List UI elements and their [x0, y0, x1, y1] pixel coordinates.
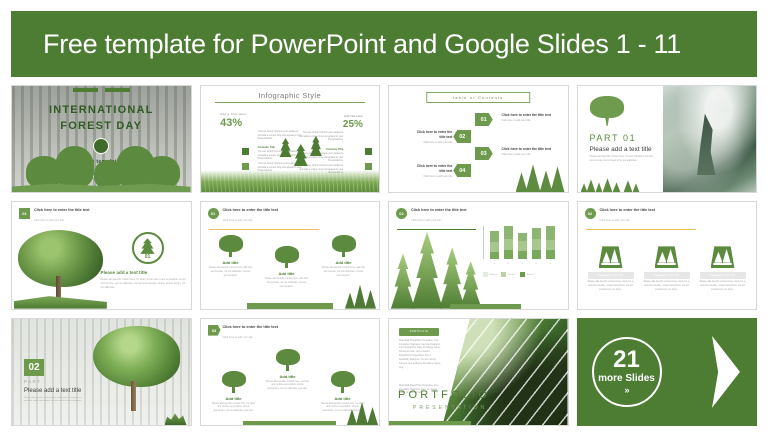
tree-crown: [93, 326, 181, 386]
right-text-block-1: You can simply impress your audience and…: [299, 131, 343, 142]
toc-item-02: Click here to enter the title text Click…: [410, 130, 452, 144]
conifer-skyline: [578, 178, 671, 192]
leaf-icon-2: [242, 163, 249, 170]
cover-title-line1: INTERNATIONAL: [49, 104, 154, 116]
legend-label-3: Series 3: [527, 274, 535, 276]
chart-bar-5: [546, 226, 555, 259]
slide-thumbnail-7[interactable]: 02 Click here to enter the title text Cl…: [388, 201, 569, 309]
part-label: PART: [24, 379, 41, 384]
slide-header: 01 Click here to enter the title text Cl…: [19, 208, 184, 224]
left-text-block-2: Contents Title You can simply impress yo…: [258, 144, 302, 161]
tree-column-2-body: Please add specific content here, add br…: [262, 278, 312, 289]
conifer-icon: [460, 261, 482, 308]
conifer-icon: [367, 407, 378, 425]
title-underline: [215, 102, 365, 103]
conifer-icon: [624, 180, 633, 192]
chart-x-label-3: 3: [518, 263, 527, 265]
portfolio-title: PORTFOLIO: [398, 389, 490, 401]
toc-item-04: Click here to enter the title text Click…: [410, 164, 452, 178]
chart-bar-2: [504, 226, 513, 259]
tree-icon: [55, 146, 94, 188]
tree-trunk: [131, 381, 136, 410]
page-header-banner: Free template for PowerPoint and Google …: [11, 11, 757, 77]
toc-item-01-sub: Click here to add your title: [501, 119, 555, 122]
tree-column-2-caption: Add title: [262, 271, 312, 276]
conifer-icon: [633, 183, 640, 192]
tree-icon: [332, 235, 356, 257]
conifer-icon: [439, 247, 465, 308]
left-stat-value: 43%: [220, 117, 242, 129]
toc-item-02-sub: Click here to add your title: [410, 141, 452, 144]
tree-icon: [275, 246, 299, 268]
toc-item-01: Click here to enter the title text Click…: [501, 113, 555, 122]
toc-item-03-title: Click here to enter the title text: [501, 147, 555, 152]
cover-title: INTERNATIONAL FOREST DAY: [12, 103, 191, 135]
tree-column-2-caption: Add title: [263, 374, 313, 379]
part-label: PART 01: [590, 133, 637, 143]
slide-number-badge: 02: [585, 208, 596, 219]
slide-header-title: Click here to enter the title text: [600, 208, 670, 213]
toc-item-03-sub: Click here to add your title: [501, 153, 555, 156]
page-title: Free template for PowerPoint and Google …: [11, 29, 681, 60]
conifer-forest-photo: [389, 232, 482, 309]
right-stat-value: 25%: [343, 119, 363, 130]
toc-item-03: Click here to enter the title text Click…: [501, 147, 555, 156]
more-slides-cta-card[interactable]: 21 more Slides »: [577, 318, 758, 426]
toc-item-04-sub: Click here to add your title: [410, 175, 452, 178]
tree-column-2-body: Please add specific content here, it is …: [263, 381, 313, 392]
slide-thumbnail-1[interactable]: INTERNATIONAL FOREST DAY Free template s…: [11, 85, 192, 193]
legend-swatch-1: [483, 272, 488, 277]
tree-column-1-caption: Add title: [209, 396, 259, 401]
forest-badge-icon: [711, 246, 735, 268]
toc-number-03: 03: [475, 147, 493, 160]
conifer-icon: [345, 293, 355, 309]
slide-thumbnail-5[interactable]: 01 Click here to enter the title text Cl…: [11, 201, 192, 309]
chart-y-axis: [483, 226, 484, 259]
slide-thumbnail-2[interactable]: Infographic Style Add a Title Here 43% A…: [200, 85, 381, 193]
conifer-icon: [354, 285, 366, 309]
right-body: Please add specific content here, for wh…: [101, 278, 187, 290]
slide-number-badge: 03: [208, 325, 221, 336]
slide-header-title: Click here to enter the title text: [223, 325, 293, 330]
part-body: Please add specific content here, summar…: [24, 397, 86, 404]
slide-number-badge: 02: [396, 208, 407, 219]
badge-column-3: Please add a text title Please add speci…: [696, 246, 750, 292]
slide-number-badge: 01: [208, 208, 219, 219]
tree-column-1-caption: Add title: [206, 260, 256, 265]
bottom-accent-bar: [247, 303, 333, 309]
grass-footer: [201, 170, 380, 192]
portfolio-pill-label: PORTFOLIO: [399, 328, 439, 336]
badge-column-1: Please add a text title Please add speci…: [584, 246, 638, 292]
conifer-cluster: [514, 158, 566, 192]
badge-column-1-body: Please add specific content here, show m…: [584, 281, 638, 292]
bottom-accent-bar: [389, 421, 471, 425]
right-block-body-1: You can simply impress your audience and…: [299, 131, 343, 141]
left-block-body-1: You can simply impress your audience and…: [258, 130, 302, 140]
toc-item-02-title: Click here to enter the title text: [410, 130, 452, 139]
tree-column-1: Add title Please add specific content he…: [209, 371, 259, 414]
double-chevron-icon: »: [624, 385, 628, 395]
conifer-icon: [613, 182, 621, 192]
screenshot-root: Free template for PowerPoint and Google …: [0, 0, 768, 436]
square-icon-1: [242, 148, 249, 155]
chart-x-label-2: 2: [504, 263, 513, 265]
conifer-icon: [540, 170, 553, 192]
slide-number-badge: 01: [19, 208, 30, 219]
part-body: Please add specific content here, the te…: [590, 155, 656, 163]
badge-column-3-caption: Please add a text title: [700, 272, 746, 279]
tree-column-1: Add title Please add specific content he…: [206, 235, 256, 278]
part-title: Please add a text title: [24, 388, 81, 394]
stacked-bar-chart: 1 2 3 4 5: [483, 226, 563, 268]
chart-bar-3: [518, 233, 527, 259]
toc-title: table of Contents: [426, 92, 530, 103]
arrow-icon-1: [365, 148, 372, 155]
chevron-right-icon[interactable]: [712, 336, 740, 408]
badge-column-2-body: Please add specific content here, show m…: [640, 281, 694, 292]
tree-column-2: Add title Please add specific content he…: [262, 246, 312, 289]
slide-header-sub: Click here to add your title: [600, 219, 630, 222]
portfolio-body-top: Download PowerPoint Templates, Free Inte…: [399, 340, 441, 371]
slide-thumbnail-4[interactable]: PART 01 Please add a text title Please a…: [577, 85, 758, 193]
conifer-cluster: [347, 397, 379, 425]
badge-column-1-caption: Please add a text title: [588, 272, 634, 279]
tree-column-1-body: Please add specific content here, add br…: [206, 267, 256, 278]
slide-header-sub: Click here to add your title: [223, 336, 253, 339]
slide-header: 02 Click here to enter the title text Cl…: [585, 208, 750, 224]
bottom-accent-bar: [243, 421, 336, 425]
toc-number-01: 01: [475, 113, 493, 126]
toc-number-04: 04: [453, 164, 471, 177]
part-title: Please add a text title: [590, 146, 652, 153]
slide-header-sub: Click here to add your title: [411, 219, 441, 222]
slide-thumbnail-8[interactable]: 02 Click here to enter the title text Cl…: [577, 201, 758, 309]
slide-header-sub: Click here to add your title: [34, 219, 64, 222]
tree-icon: [219, 235, 243, 257]
tree-column-3: Add title Please add specific content he…: [319, 235, 369, 278]
slide-thumbnail-9[interactable]: 02 PART Please add a text title Please a…: [11, 318, 192, 426]
section-number: 02: [24, 359, 44, 376]
forest-badge-icon: [599, 246, 623, 268]
conifer-icon: [581, 183, 588, 192]
tree-crown: [590, 96, 624, 118]
slide-thumbnail-grid: INTERNATIONAL FOREST DAY Free template s…: [11, 85, 757, 426]
badge-column-3-body: Please add specific content here, show m…: [696, 281, 750, 292]
top-accent-bar-right: [105, 88, 130, 92]
slide-header-title: Click here to enter the title text: [411, 208, 481, 213]
chart-x-label-5: 5: [546, 263, 555, 265]
conifer-icon: [411, 232, 443, 309]
left-stat-label: Add a Title Here: [220, 112, 246, 116]
leaf-icon-3: [365, 163, 372, 170]
right-title: Please add a text title: [101, 270, 187, 275]
left-text-block-1: You can simply impress your audience and…: [258, 130, 302, 141]
conifer-icon: [347, 409, 357, 425]
slide-header-sub: Click here to add your title: [223, 219, 253, 222]
conifer-icon: [140, 238, 156, 254]
slide-thumbnail-3[interactable]: table of Contents 01 Click here to enter…: [388, 85, 569, 193]
legend-swatch-2: [501, 272, 506, 277]
accent-underline: [209, 229, 320, 230]
conifer-icon: [516, 172, 528, 192]
left-block-body-2: You can simply impress your audience and…: [258, 150, 302, 160]
chart-legend: Series 1 Series 2 Series 3: [483, 272, 563, 277]
tree-icon: [331, 371, 355, 393]
slide-thumbnail-6[interactable]: 01 Click here to enter the title text Cl…: [200, 201, 381, 309]
top-accent-bar-left: [73, 88, 98, 92]
conifer-icon: [526, 164, 541, 192]
conifer-cluster: [345, 279, 379, 309]
conifer-icon: [365, 290, 376, 309]
tree-photo: [14, 230, 107, 309]
conifer-icon: [551, 166, 565, 192]
chart-x-label-4: 4: [532, 263, 541, 265]
toc-item-04-title: Click here to enter the title text: [410, 164, 452, 173]
right-stat-label: Add Title Here: [344, 114, 363, 118]
tree-row: [12, 134, 191, 188]
tree-column-2: Add title Please add specific content he…: [263, 349, 313, 392]
portfolio-subtitle: PRESENTATION: [413, 405, 487, 411]
more-slides-count: 21: [613, 348, 640, 372]
slide-thumbnail-11[interactable]: PORTFOLIO Download PowerPoint Templates,…: [388, 318, 569, 426]
accent-underline: [397, 229, 476, 230]
legend-swatch-3: [520, 272, 525, 277]
more-slides-circle[interactable]: 21 more Slides »: [592, 337, 662, 407]
slide-header-title: Click here to enter the title text: [223, 208, 293, 213]
chart-bar-1: [490, 231, 499, 259]
conifer-icon: [603, 178, 613, 192]
chart-bar-4: [532, 228, 541, 259]
tree-icon: [144, 156, 180, 188]
circle-badge-number: 01: [134, 254, 162, 260]
tree-photo: [87, 325, 187, 416]
tree-column-3-body: Please add specific content here, add br…: [319, 267, 369, 278]
tree-trunk: [605, 117, 609, 126]
tree-icon: [222, 371, 246, 393]
cover-title-line2: FOREST DAY: [60, 120, 142, 132]
slide-header-title: Click here to enter the title text: [34, 208, 104, 213]
conifer-icon: [596, 182, 603, 192]
tree-trunk: [56, 276, 61, 300]
forest-badge-icon: [655, 246, 679, 268]
conifer-icon: [587, 179, 596, 192]
conifer-icon: [391, 254, 415, 309]
badge-column-2: Please add a text title Please add speci…: [640, 246, 694, 292]
conifer-icon: [356, 402, 368, 425]
mountain-forest-photo: [663, 86, 756, 192]
badge-column-2-caption: Please add a text title: [644, 272, 690, 279]
slide-header: 03 Click here to enter the title text Cl…: [208, 325, 373, 341]
tree-icon-large: [590, 96, 624, 126]
accent-underline: [586, 229, 697, 230]
slide-header: 02 Click here to enter the title text Cl…: [396, 208, 561, 224]
tree-column-1-body: Please add specific content here, be sho…: [209, 403, 259, 414]
slide-header: 01 Click here to enter the title text Cl…: [208, 208, 373, 224]
slide-thumbnail-10[interactable]: 03 Click here to enter the title text Cl…: [200, 318, 381, 426]
toc-number-02: 02: [453, 130, 471, 143]
circle-badge: 01: [132, 232, 164, 264]
tree-icon: [276, 349, 300, 371]
chart-x-label-1: 1: [490, 263, 499, 265]
bottom-accent-bar: [450, 304, 521, 309]
right-text-block-2: Contents Title You can simply impress yo…: [299, 146, 343, 163]
tree-column-3-caption: Add title: [319, 260, 369, 265]
infographic-title: Infographic Style: [201, 91, 380, 100]
toc-item-01-title: Click here to enter the title text: [501, 113, 555, 118]
more-slides-label: more Slides: [598, 373, 655, 384]
ground-shape: [14, 296, 107, 309]
legend-label-2: Series 2: [508, 274, 516, 276]
legend-label-1: Series 1: [490, 274, 498, 276]
